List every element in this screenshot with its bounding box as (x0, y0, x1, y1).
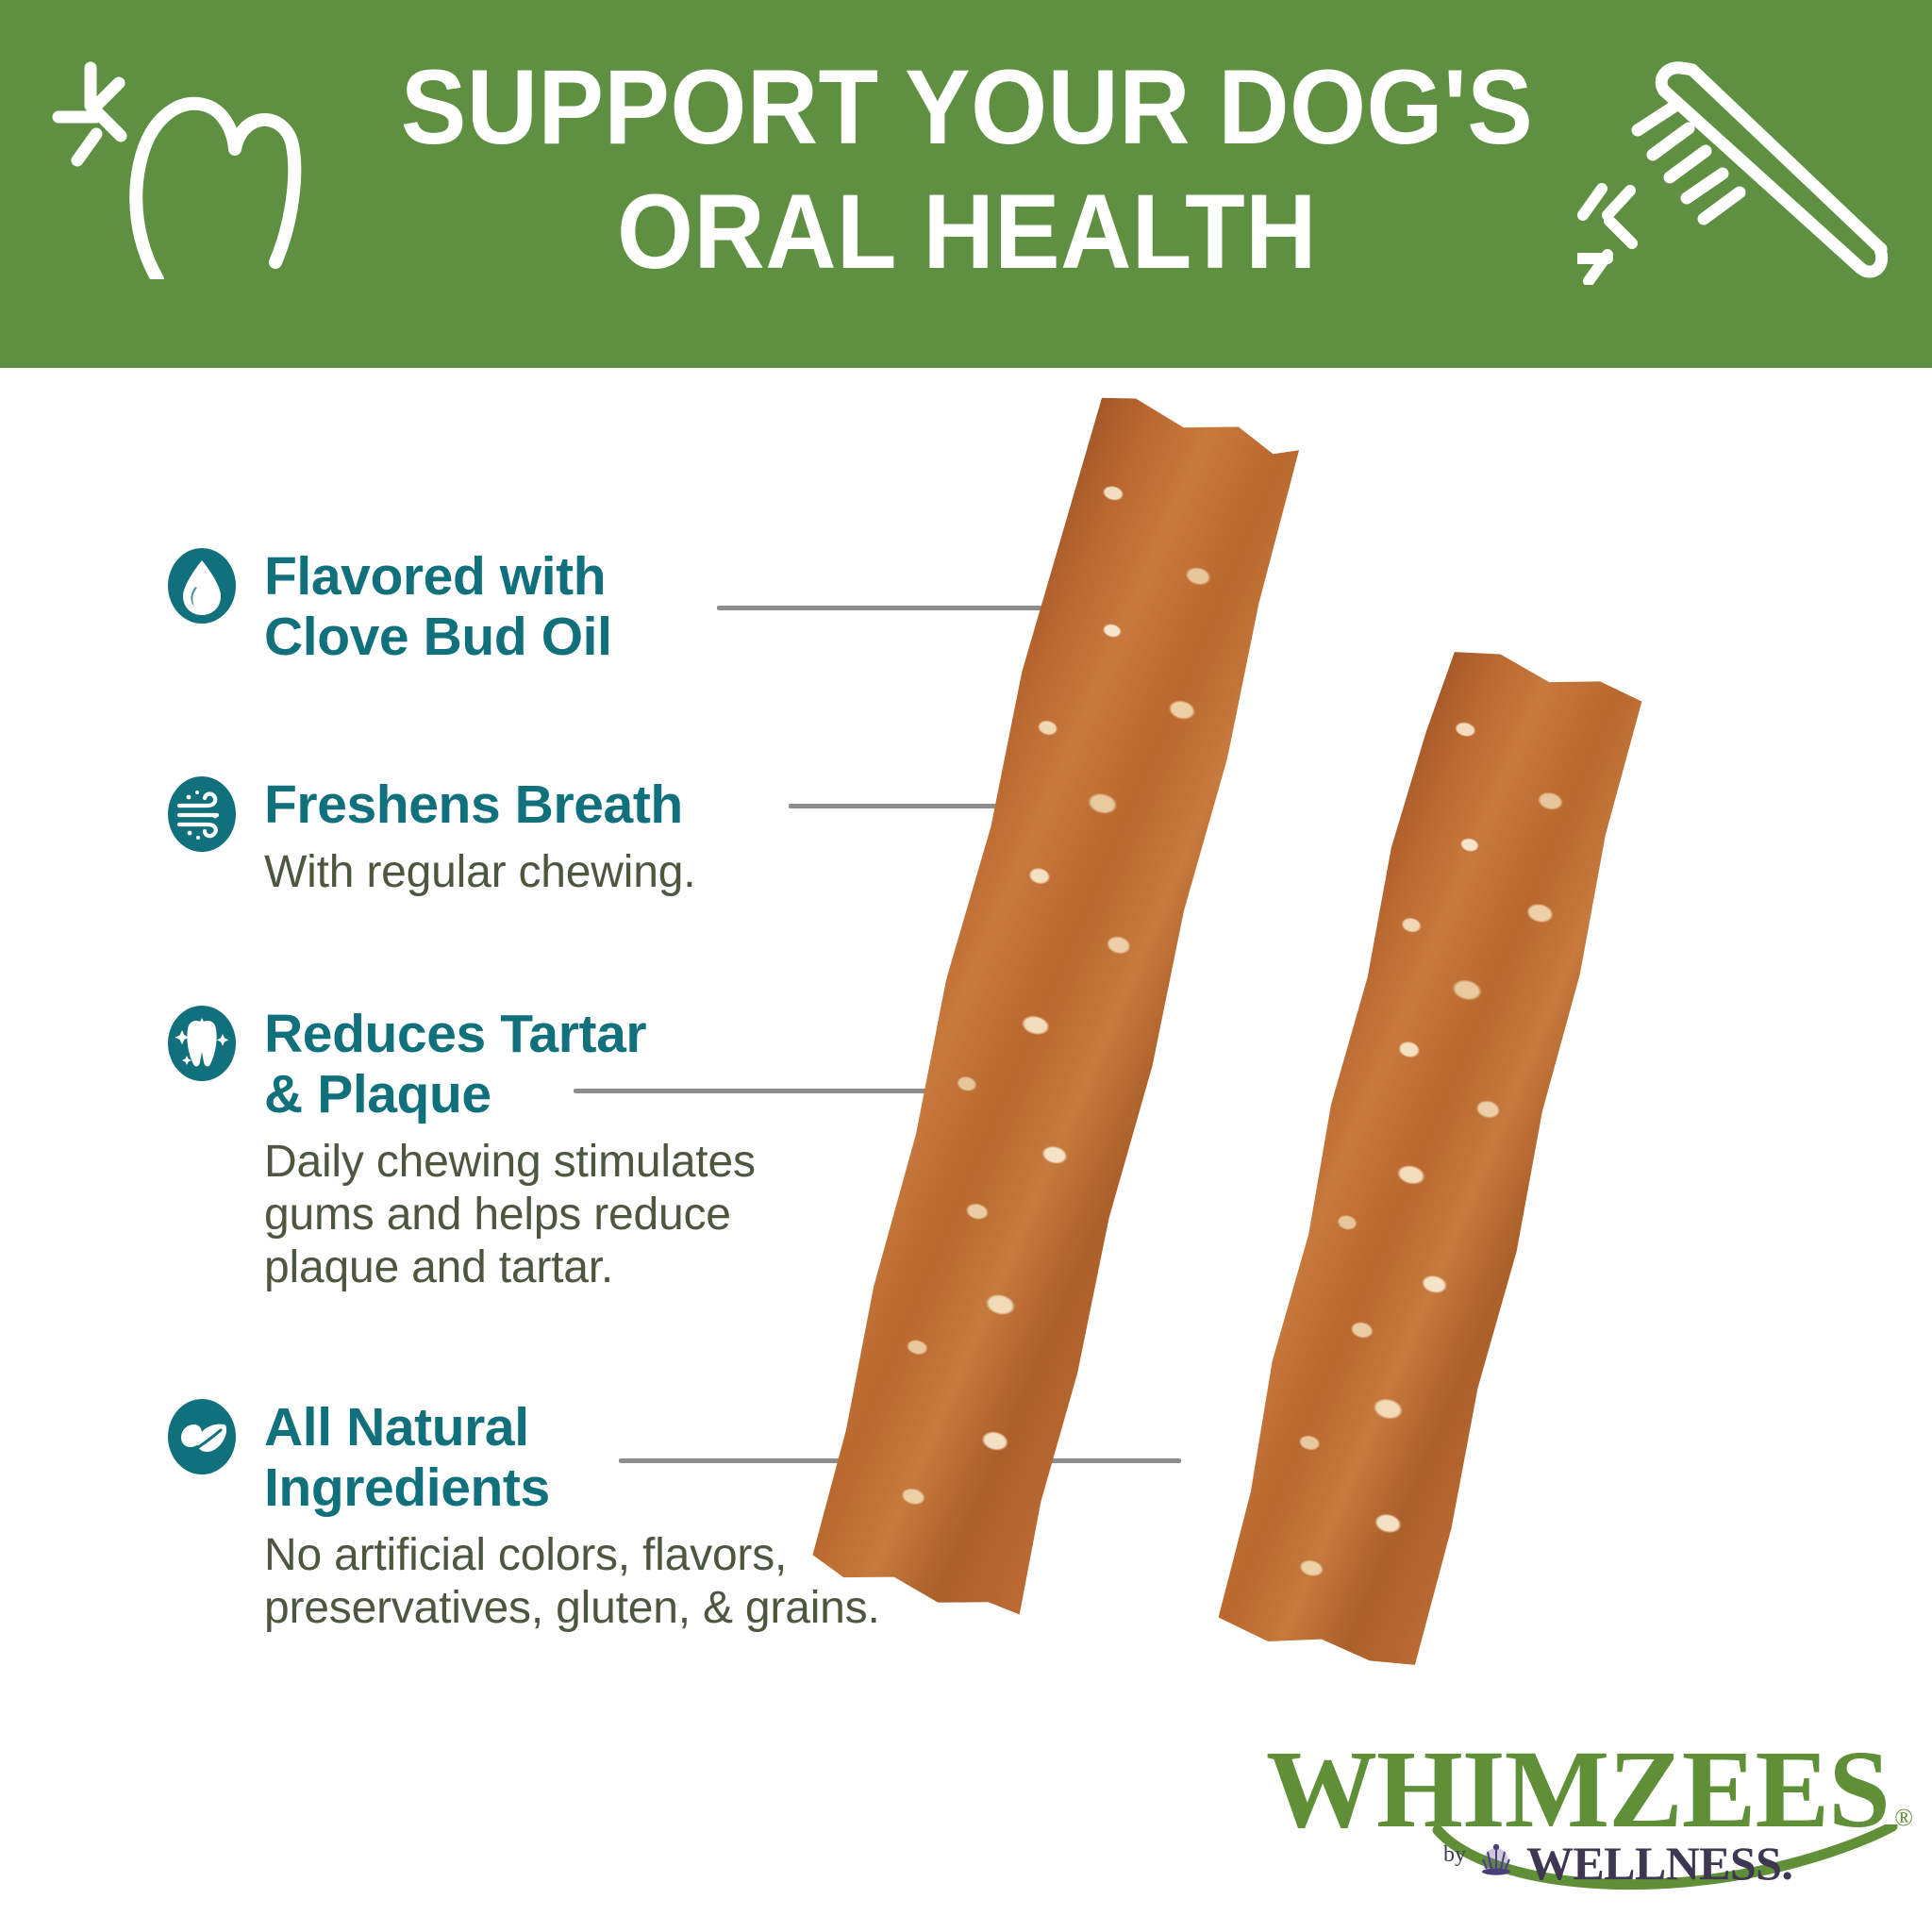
feature-desc: No artificial colors, flavors, preservat… (264, 1529, 880, 1635)
page-title: SUPPORT YOUR DOG'S ORAL HEALTH (358, 45, 1577, 294)
feature-body: Freshens Breath With regular chewing. (264, 775, 695, 899)
sparkle-tooth-icon (49, 43, 304, 279)
brand-logo: WHIMZEES ® by (1266, 1734, 1917, 1923)
wellness-mark-icon (1474, 1840, 1518, 1887)
feature-item-freshens-breath: Freshens Breath With regular chewing. (166, 775, 695, 899)
feature-body: Reduces Tartar & Plaque Daily chewing st… (264, 1005, 756, 1294)
feature-desc: With regular chewing. (264, 846, 695, 899)
header-banner: SUPPORT YOUR DOG'S ORAL HEALTH (0, 0, 1932, 368)
wind-breath-icon (166, 775, 238, 853)
sparkle-tooth-icon (166, 1005, 238, 1082)
logo-sub-brand: by (1443, 1840, 1792, 1887)
toothbrush-icon (1577, 49, 1889, 285)
dental-chew-stick (805, 387, 1305, 1622)
feature-desc: Daily chewing stimulates gums and helps … (264, 1136, 756, 1294)
logo-by-label: by (1443, 1843, 1466, 1866)
product-infographic: SUPPORT YOUR DOG'S ORAL HEALTH (0, 0, 1932, 1932)
feature-body: All Natural Ingredients No artificial co… (264, 1398, 880, 1635)
feature-item-all-natural-ingredients: All Natural Ingredients No artificial co… (166, 1398, 880, 1635)
feature-title: Reduces Tartar & Plaque (264, 1005, 756, 1125)
feature-item-reduces-tartar-plaque: Reduces Tartar & Plaque Daily chewing st… (166, 1005, 756, 1294)
dental-chew-stick (1209, 640, 1647, 1676)
leaf-sprout-icon (166, 1398, 238, 1475)
feature-item-clove-bud-oil: Flavored with Clove Bud Oil (166, 547, 612, 678)
feature-title: Freshens Breath (264, 775, 695, 836)
product-photo (830, 396, 1924, 1811)
feature-body: Flavored with Clove Bud Oil (264, 547, 612, 668)
logo-sub-text: WELLNESS. (1526, 1840, 1792, 1887)
water-drop-icon (166, 547, 238, 625)
feature-title: Flavored with Clove Bud Oil (264, 547, 612, 668)
